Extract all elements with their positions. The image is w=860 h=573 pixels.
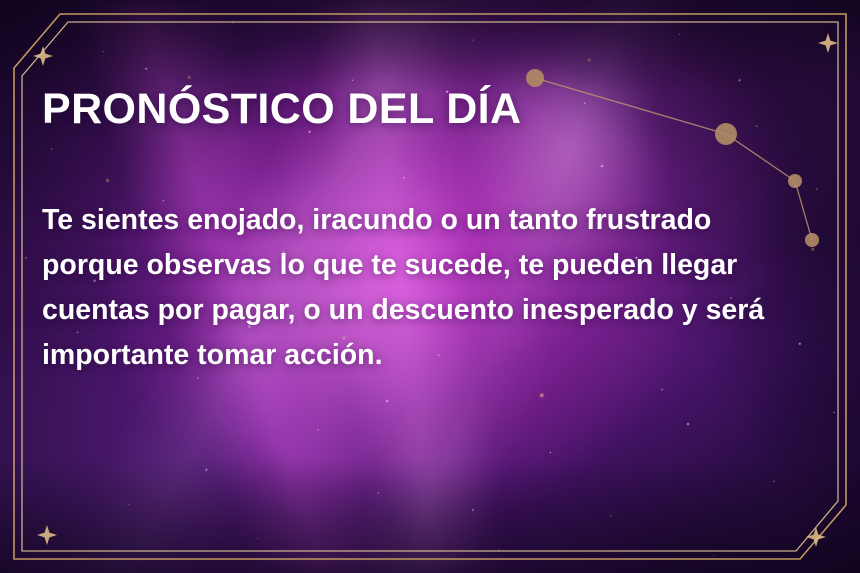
card-content: PRONÓSTICO DEL DÍA Te sientes enojado, i…: [42, 0, 822, 573]
page-title: PRONÓSTICO DEL DÍA: [42, 88, 521, 131]
horoscope-card: PRONÓSTICO DEL DÍA Te sientes enojado, i…: [0, 0, 860, 573]
forecast-body-text: Te sientes enojado, iracundo o un tanto …: [42, 198, 802, 378]
